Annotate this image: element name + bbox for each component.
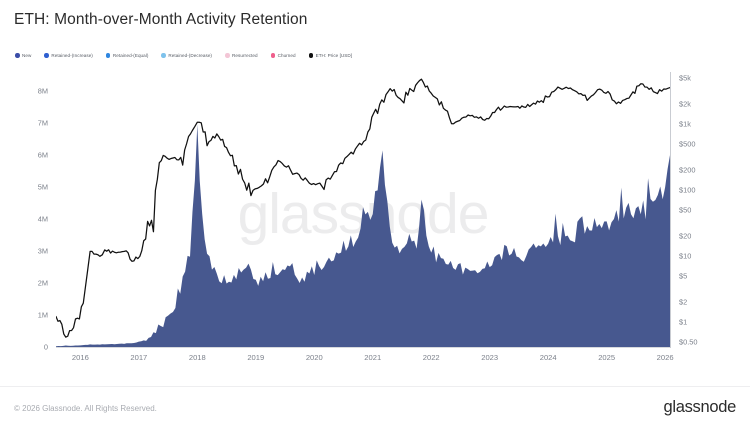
legend-item-resurrected[interactable]: Resurrected	[225, 53, 258, 59]
x-tick-2025: 2025	[598, 353, 615, 362]
legend-item-retained-equal[interactable]: Retained-(Equal)	[106, 53, 149, 59]
legend-item-eth-price[interactable]: ETH: Price [USD]	[309, 53, 353, 59]
x-tick-2023: 2023	[481, 353, 498, 362]
y-tick-right-6: $50	[679, 206, 691, 215]
legend-item-churned[interactable]: Churned	[271, 53, 296, 59]
y-tick-right-5: $20	[679, 232, 691, 241]
area-series-activity-retention	[56, 124, 670, 347]
plot-area: glassnode 01M2M3M4M5M6M7M8M $0.50$1$2$5$…	[56, 72, 670, 347]
y-tick-left-7: 7M	[38, 119, 48, 128]
y-tick-right-0: $0.50	[679, 338, 698, 347]
legend-label-churned: Churned	[278, 53, 296, 59]
x-tick-2021: 2021	[364, 353, 381, 362]
x-tick-2017: 2017	[130, 353, 147, 362]
y-tick-right-1: $1	[679, 318, 687, 327]
y-tick-left-0: 0	[44, 343, 48, 352]
y-tick-left-8: 8M	[38, 87, 48, 96]
page-title: ETH: Month-over-Month Activity Retention	[14, 11, 307, 29]
x-tick-2018: 2018	[189, 353, 206, 362]
y-tick-left-3: 3M	[38, 247, 48, 256]
y-tick-right-9: $500	[679, 140, 695, 149]
legend-swatch-new	[15, 53, 20, 58]
legend-item-retained-increase[interactable]: Retained-(Increase)	[44, 53, 93, 59]
legend-item-retained-decrease[interactable]: Retained-(Decrease)	[161, 53, 212, 59]
x-tick-2019: 2019	[247, 353, 264, 362]
legend-label-retained-increase: Retained-(Increase)	[51, 53, 93, 59]
legend-label-retained-decrease: Retained-(Decrease)	[168, 53, 212, 59]
y-tick-left-5: 5M	[38, 183, 48, 192]
legend-item-new[interactable]: New	[15, 53, 31, 59]
y-tick-left-6: 6M	[38, 151, 48, 160]
y-tick-right-7: $100	[679, 186, 695, 195]
legend-swatch-retained-increase	[44, 53, 49, 58]
x-axis-line	[56, 347, 670, 348]
y-tick-right-12: $5k	[679, 74, 691, 83]
x-tick-2016: 2016	[72, 353, 89, 362]
footer-copyright: © 2026 Glassnode. All Rights Reserved.	[14, 404, 157, 413]
legend-label-eth-price: ETH: Price [USD]	[316, 53, 353, 59]
legend-label-resurrected: Resurrected	[232, 53, 258, 59]
y-tick-right-8: $200	[679, 166, 695, 175]
y-tick-right-2: $2	[679, 298, 687, 307]
chart-container: ETH: Month-over-Month Activity Retention…	[0, 0, 750, 430]
legend-swatch-retained-decrease	[161, 53, 166, 58]
legend-label-retained-equal: Retained-(Equal)	[113, 53, 149, 59]
y-tick-right-4: $10	[679, 252, 691, 261]
x-tick-2024: 2024	[540, 353, 557, 362]
chart-svg	[56, 72, 670, 347]
legend-swatch-eth-price	[309, 53, 314, 58]
y-tick-left-4: 4M	[38, 215, 48, 224]
footer-divider	[0, 386, 750, 387]
x-tick-2020: 2020	[306, 353, 323, 362]
y-tick-left-2: 2M	[38, 279, 48, 288]
y-tick-left-1: 1M	[38, 311, 48, 320]
y-tick-right-11: $2k	[679, 100, 691, 109]
footer-brand-logo: glassnode	[663, 398, 736, 417]
legend-swatch-retained-equal	[106, 53, 111, 58]
x-tick-2026: 2026	[657, 353, 674, 362]
legend-swatch-resurrected	[225, 53, 230, 58]
legend-swatch-churned	[271, 53, 276, 58]
x-tick-2022: 2022	[423, 353, 440, 362]
y-tick-right-10: $1k	[679, 120, 691, 129]
right-axis-line	[670, 72, 671, 348]
y-tick-right-3: $5	[679, 272, 687, 281]
chart-legend: New Retained-(Increase) Retained-(Equal)…	[15, 50, 352, 61]
legend-label-new: New	[22, 53, 31, 59]
